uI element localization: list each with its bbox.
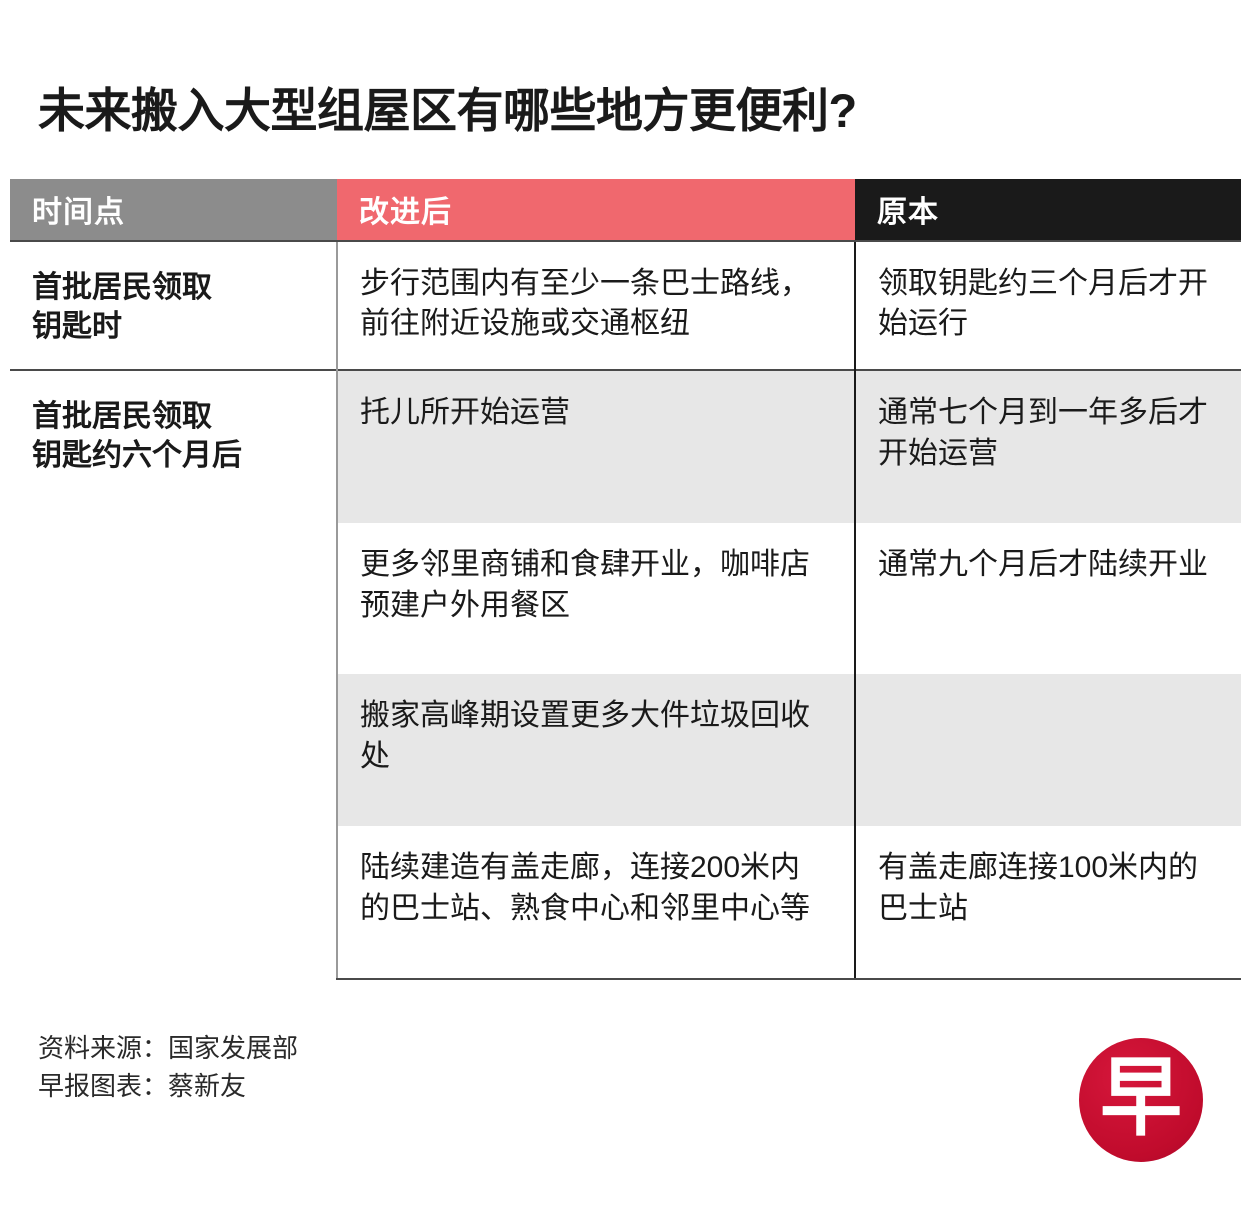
row-original-2-3: 有盖走廊连接100米内的巴士站 [855, 826, 1241, 979]
row-original-2-0: 通常七个月到一年多后才开始运营 [855, 370, 1241, 523]
row-improved-2-0: 托儿所开始运营 [337, 370, 855, 523]
zaobao-logo-icon: 早 [1079, 1038, 1203, 1162]
table-header-row: 时间点 改进后 原本 [10, 179, 1241, 241]
table-row: 首批居民领取 钥匙约六个月后 托儿所开始运营 通常七个月到一年多后才开始运营 [10, 370, 1241, 523]
header-cell-time: 时间点 [10, 179, 337, 241]
footer-credit: 早报图表：蔡新友 [38, 1068, 298, 1106]
comparison-table: 时间点 改进后 原本 首批居民领取 钥匙时 步行范围内有至少一条巴士路线，前往附… [10, 179, 1241, 980]
row-improved-2-3: 陆续建造有盖走廊，连接200米内的巴士站、熟食中心和邻里中心等 [337, 826, 855, 979]
row-improved-1-0: 步行范围内有至少一条巴士路线，前往附近设施或交通枢纽 [337, 241, 855, 370]
row-improved-2-2: 搬家高峰期设置更多大件垃圾回收处 [337, 674, 855, 826]
infographic-page: 未来搬入大型组屋区有哪些地方更便利? 时间点 改进后 原本 首批居民领取 钥匙时… [0, 0, 1251, 1208]
header-cell-original: 原本 [855, 179, 1241, 241]
footer: 资料来源：国家发展部 早报图表：蔡新友 [38, 1030, 298, 1105]
header-cell-improved: 改进后 [337, 179, 855, 241]
row-time-label-1: 首批居民领取 钥匙时 [10, 241, 337, 370]
page-title: 未来搬入大型组屋区有哪些地方更便利? [10, 0, 1241, 137]
row-original-1-0: 领取钥匙约三个月后才开始运行 [855, 241, 1241, 370]
row-time-label-2: 首批居民领取 钥匙约六个月后 [10, 370, 337, 979]
row-original-2-2 [855, 674, 1241, 826]
row-improved-2-1: 更多邻里商铺和食肆开业，咖啡店预建户外用餐区 [337, 523, 855, 675]
footer-source: 资料来源：国家发展部 [38, 1030, 298, 1068]
table-row: 首批居民领取 钥匙时 步行范围内有至少一条巴士路线，前往附近设施或交通枢纽 领取… [10, 241, 1241, 370]
zaobao-logo-glyph: 早 [1100, 1055, 1182, 1141]
row-original-2-1: 通常九个月后才陆续开业 [855, 523, 1241, 675]
